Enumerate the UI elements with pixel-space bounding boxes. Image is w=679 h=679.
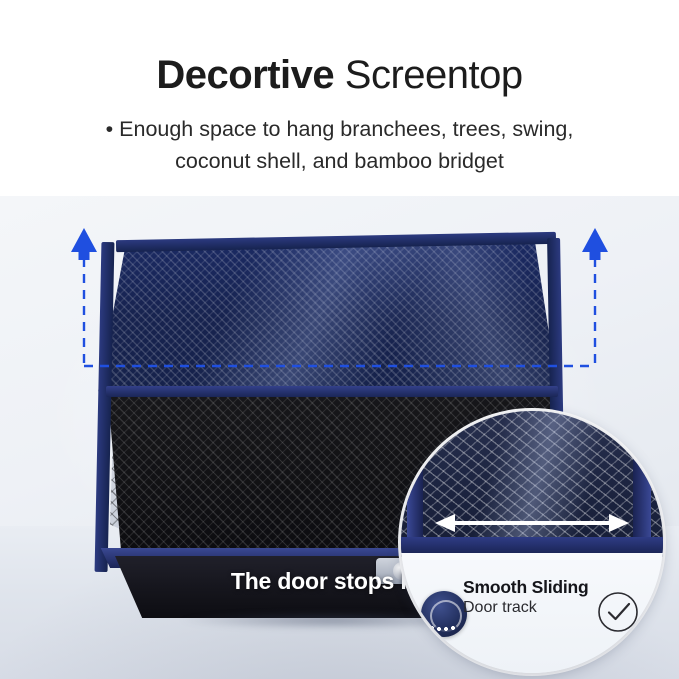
page-title-bold: Decortive [156,53,334,97]
product-infographic: Decortive Screentop • Enough space to ha… [0,0,679,679]
zoom-inset-callout: Smooth Sliding Door track [401,411,663,673]
subtitle-line-1: • Enough space to hang branchees, trees,… [106,117,574,141]
arrow-head-left-icon [435,514,455,532]
arrow-up-right-icon [582,228,608,252]
arrow-up-right-stem [590,250,601,260]
arrow-up-left-icon [71,228,97,252]
page-title-light: Screentop [345,53,523,97]
subtitle: • Enough space to hang branchees, trees,… [0,113,679,177]
product-photo: The door stops here Smooth Sliding Door … [0,196,679,679]
page-title: Decortive Screentop [0,52,679,98]
arrow-head-right-icon [609,514,629,532]
subtitle-line-2: coconut shell, and bamboo bridget [0,145,679,177]
check-circle-icon [595,589,641,635]
roller-wheel-bearings [429,624,459,632]
arrow-up-left-stem [79,250,90,260]
roller-wheel-icon [421,591,467,637]
